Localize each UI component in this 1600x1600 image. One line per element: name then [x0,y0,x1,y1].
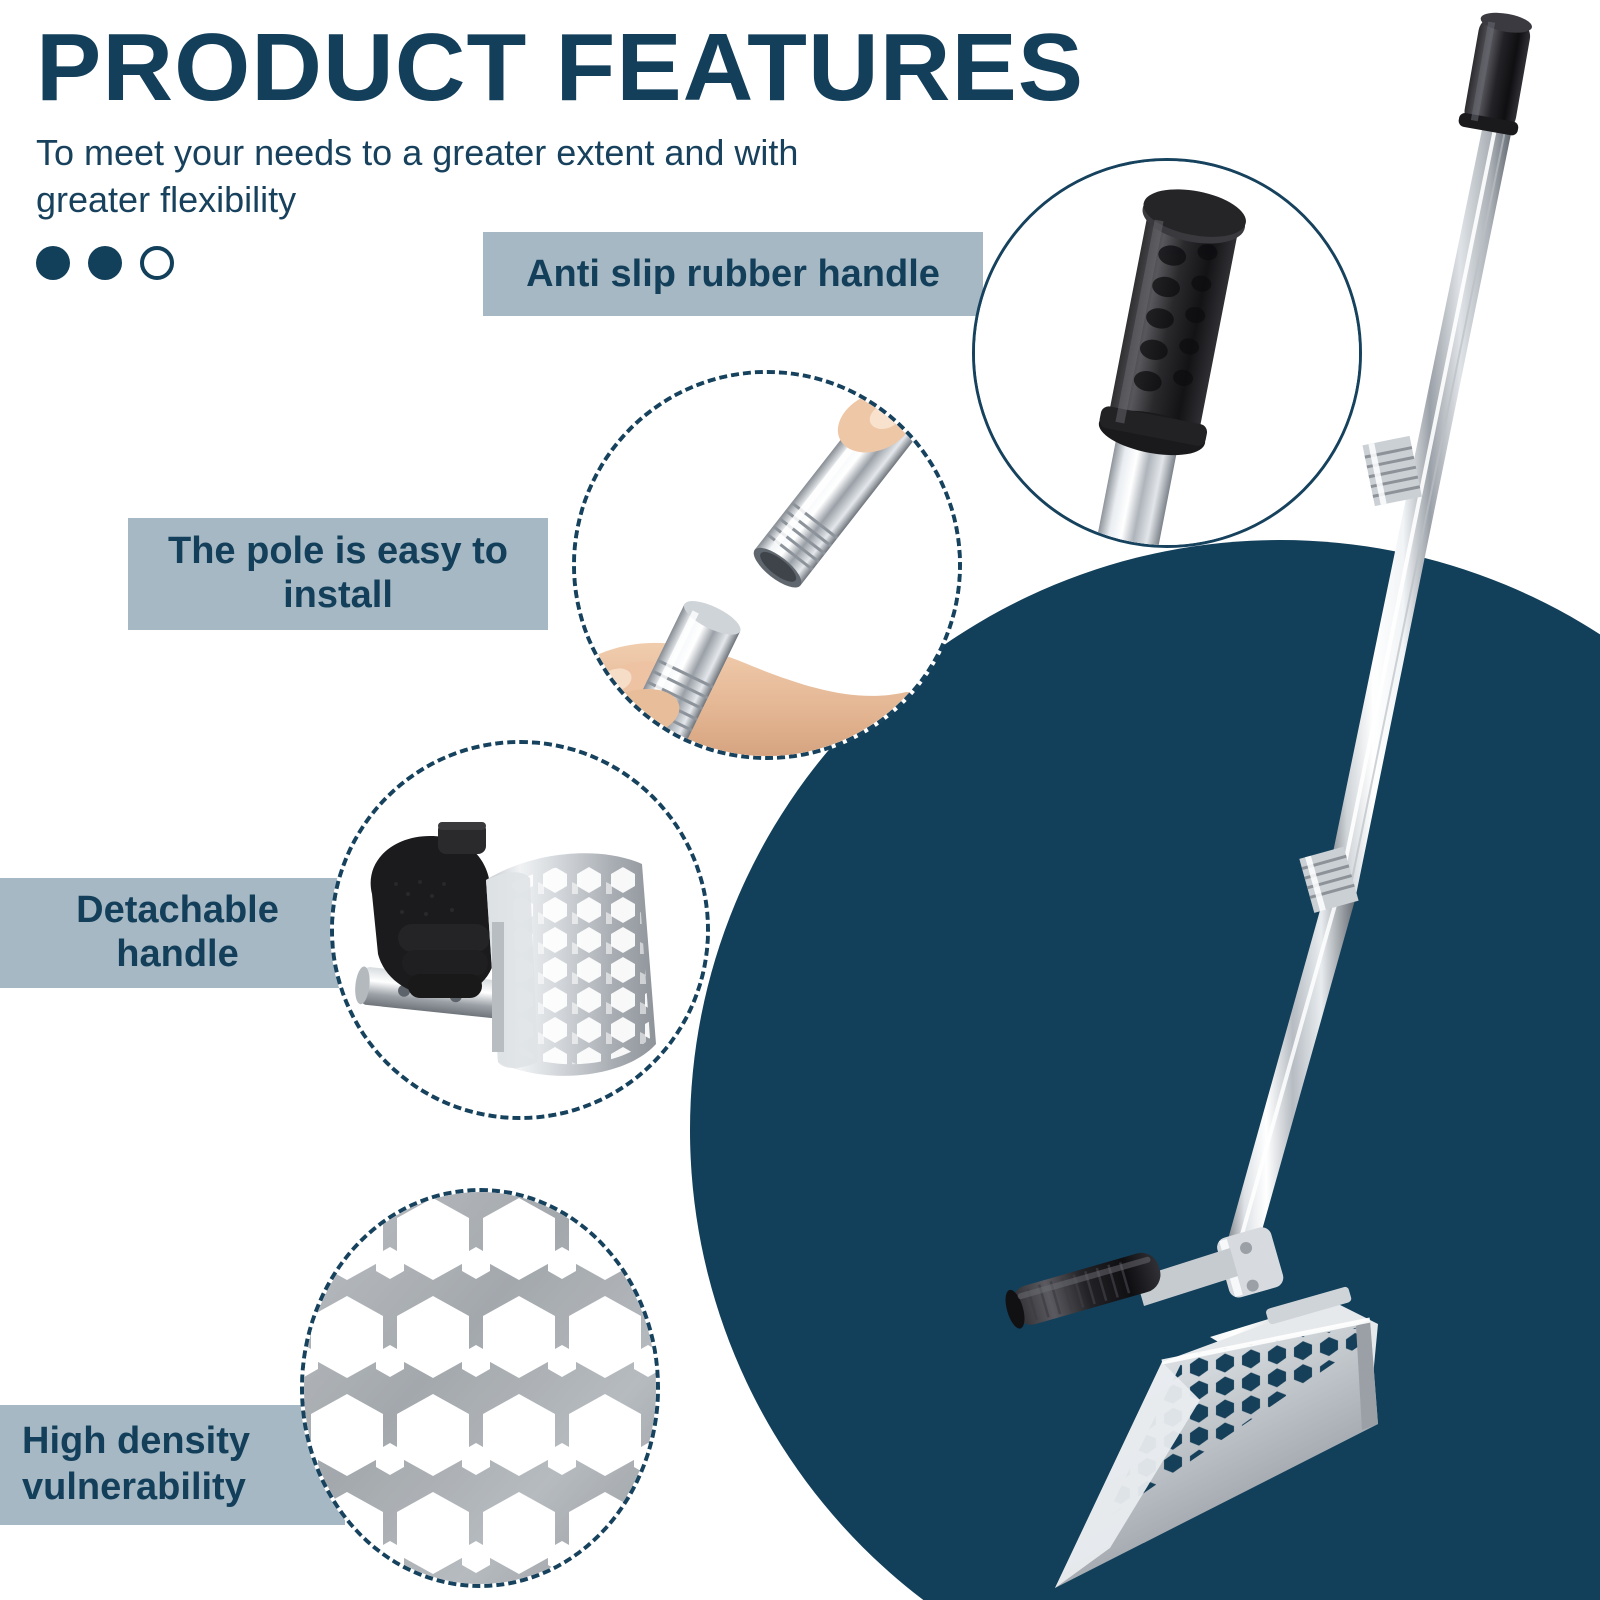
feature-label-high-density: High density vulnerability [0,1405,345,1525]
page-title: PRODUCT FEATURES [36,24,1084,112]
rubber-top-grip [1458,9,1538,137]
telescoping-pole [1225,9,1537,1255]
gloved-hand [371,822,497,998]
feature-label-text: The pole is easy to install [146,530,530,617]
carousel-dot-2[interactable] [88,246,122,280]
page-subtitle: To meet your needs to a greater extent a… [36,130,826,224]
detachable-scoop-illustration [334,744,710,1120]
infographic-canvas: PRODUCT FEATURES To meet your needs to a… [0,0,1600,1600]
feature-label-detachable-handle: Detachable handle [0,878,355,988]
threaded-joint-upper [1363,436,1422,506]
feature-label-pole-install: The pole is easy to install [128,518,548,630]
feature-label-text: High density vulnerability [22,1419,323,1510]
feature-label-text: Detachable handle [18,889,337,976]
inset-hexagon-mesh-photo [300,1188,660,1588]
hex-perforated-scoop [1050,1286,1450,1600]
carousel-dots[interactable] [36,246,1064,280]
carousel-dot-3[interactable] [140,246,174,280]
cross-t-handle [1002,1225,1286,1331]
inset-detachable-scoop-photo [330,740,710,1120]
carousel-dot-1[interactable] [36,246,70,280]
header-block: PRODUCT FEATURES To meet your needs to a… [36,24,1064,280]
hexagon-mesh-illustration [304,1192,660,1588]
